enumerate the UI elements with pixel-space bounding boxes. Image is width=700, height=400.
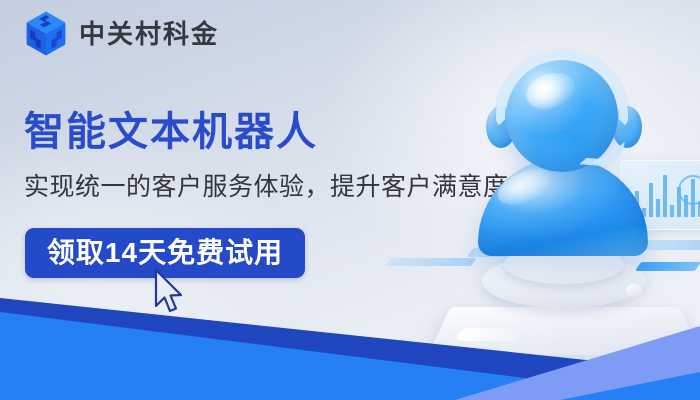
pedestal-light-strip xyxy=(454,328,526,341)
pedestal-knob xyxy=(626,284,642,297)
floating-slab-accent xyxy=(635,262,700,271)
hero-headline: 智能文本机器人 xyxy=(24,110,318,155)
headset-microphone xyxy=(579,138,625,167)
headset-band xyxy=(496,50,628,128)
promo-banner: 中关村科金 智能文本机器人 实现统一的客户服务体验，提升客户满意度 领取14天免… xyxy=(0,0,700,400)
isometric-cube-logo-icon xyxy=(24,11,68,57)
panel-ring-icon xyxy=(678,175,700,205)
robot-illustration xyxy=(430,40,700,360)
brand-name: 中关村科金 xyxy=(79,21,219,47)
band-bright-right xyxy=(560,372,700,400)
free-trial-cta-button[interactable]: 领取14天免费试用 xyxy=(25,228,305,278)
floating-slab xyxy=(385,258,476,266)
brand-logo[interactable]: 中关村科金 xyxy=(24,11,219,57)
